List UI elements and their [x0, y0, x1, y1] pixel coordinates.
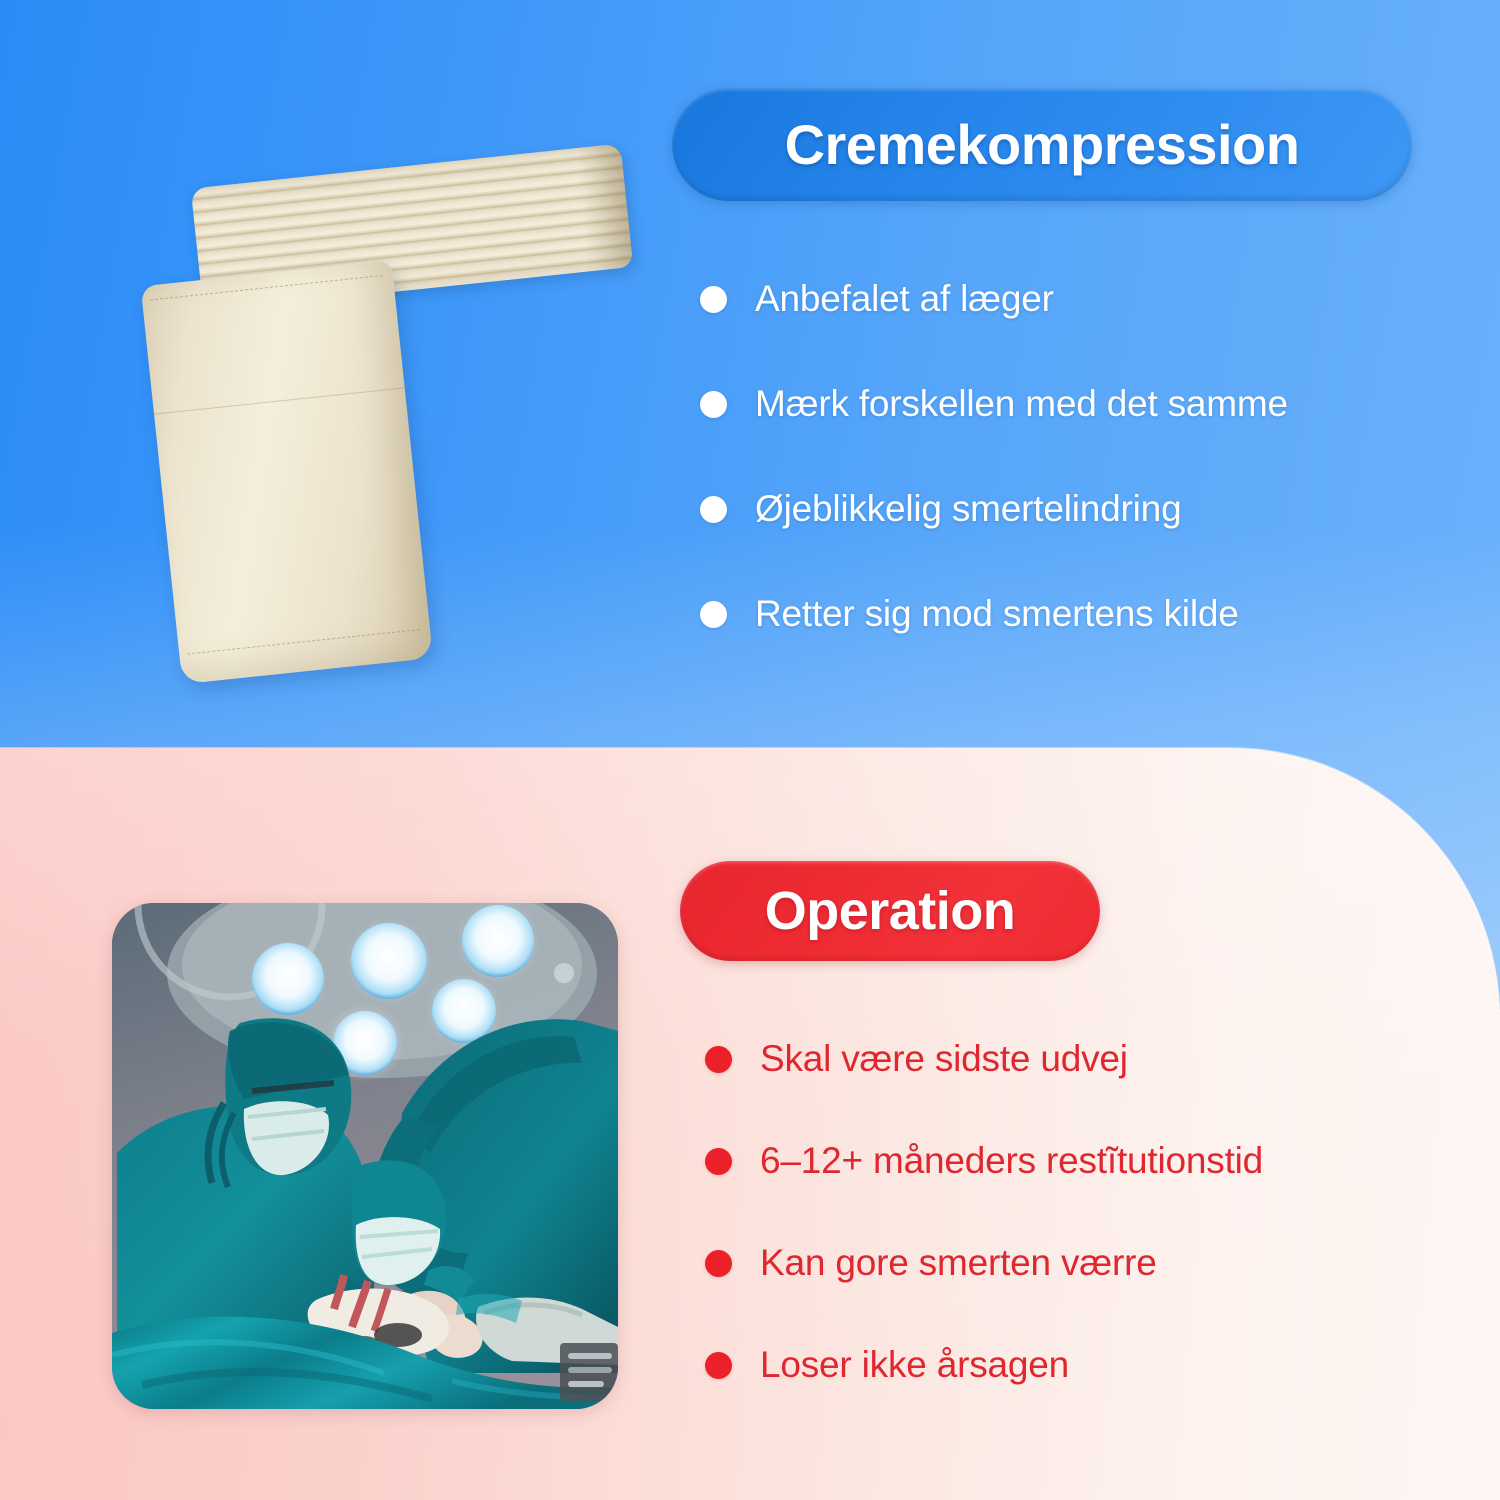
list-item-label: Kan gore smerten værre: [760, 1242, 1157, 1284]
bullet-dot-icon: [700, 286, 727, 313]
list-item-label: 6–12+ måneders restĩtutionstid: [760, 1140, 1263, 1182]
bullet-dot-icon: [700, 391, 727, 418]
list-item-label: Anbefalet af læger: [755, 278, 1054, 320]
top-heading-badge: Cremekompression: [672, 88, 1412, 201]
bullet-dot-icon: [705, 1046, 732, 1073]
bullet-dot-icon: [700, 496, 727, 523]
list-item: Retter sig mod smertens kilde: [700, 593, 1460, 635]
bullet-dot-icon: [705, 1148, 732, 1175]
list-item: Skal være sidste udvej: [705, 1038, 1465, 1080]
product-sleeve-body: [141, 260, 433, 684]
surgery-photo: [112, 903, 618, 1409]
list-item-label: Loser ikke årsagen: [760, 1344, 1069, 1386]
list-item: Mærk forskellen med det samme: [700, 383, 1460, 425]
list-item: Loser ikke årsagen: [705, 1344, 1465, 1386]
bullet-dot-icon: [700, 601, 727, 628]
bullet-dot-icon: [705, 1352, 732, 1379]
bottom-heading-text: Operation: [765, 880, 1016, 942]
top-heading-text: Cremekompression: [785, 112, 1300, 177]
list-item-label: Skal være sidste udvej: [760, 1038, 1128, 1080]
product-image-compression-sleeve: [120, 130, 680, 710]
infographic-page: Cremekompression Anbefalet af læger Mærk…: [0, 0, 1500, 1500]
list-item: 6–12+ måneders restĩtutionstid: [705, 1140, 1465, 1182]
bottom-drawbacks-list: Skal være sidste udvej 6–12+ måneders re…: [705, 1038, 1465, 1386]
surgery-photo-illustration: [112, 903, 618, 1409]
list-item-label: Øjeblikkelig smertelindring: [755, 488, 1181, 530]
bottom-heading-badge: Operation: [680, 861, 1100, 961]
list-item: Øjeblikkelig smertelindring: [700, 488, 1460, 530]
list-item: Anbefalet af læger: [700, 278, 1460, 320]
list-item-label: Retter sig mod smertens kilde: [755, 593, 1239, 635]
top-benefits-list: Anbefalet af læger Mærk forskellen med d…: [700, 278, 1460, 635]
list-item: Kan gore smerten værre: [705, 1242, 1465, 1284]
product-rotation-group: [91, 102, 709, 737]
list-item-label: Mærk forskellen med det samme: [755, 383, 1288, 425]
bullet-dot-icon: [705, 1250, 732, 1277]
